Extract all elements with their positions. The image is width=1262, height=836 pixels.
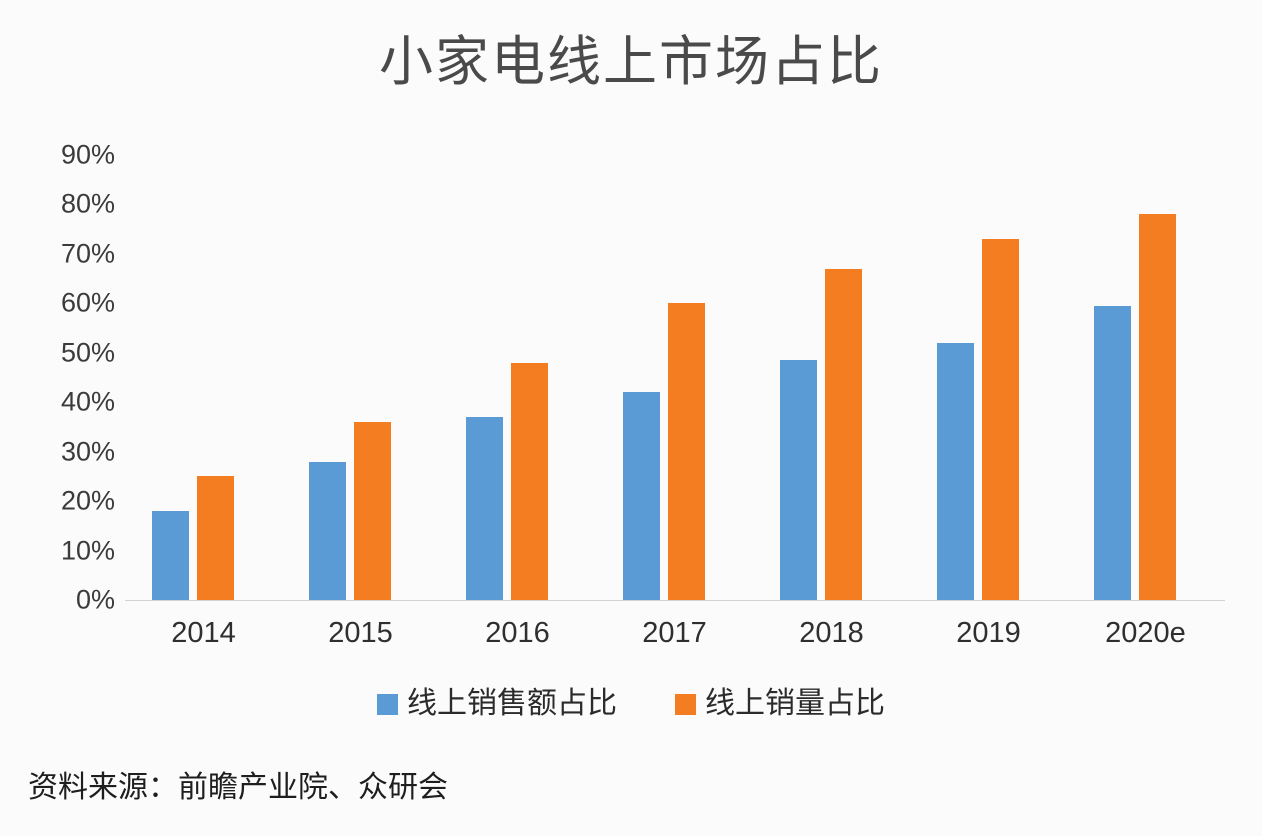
- y-axis-tick: 50%: [23, 339, 115, 366]
- x-axis-tick: 2015: [282, 612, 439, 654]
- source-note: 资料来源：前瞻产业院、众研会: [28, 768, 448, 808]
- x-axis-line: [125, 600, 1225, 601]
- bar-group: [125, 155, 282, 600]
- chart-legend: 线上销售额占比线上销量占比: [0, 686, 1262, 722]
- chart-title: 小家电线上市场占比: [0, 28, 1262, 96]
- x-axis-tick: 2014: [125, 612, 282, 654]
- bar-group: [596, 155, 753, 600]
- legend-item-1[interactable]: 线上销量占比: [675, 686, 885, 722]
- bar-2016-series-0[interactable]: [466, 417, 503, 600]
- bar-group: [910, 155, 1067, 600]
- bar-2018-series-1[interactable]: [825, 269, 862, 600]
- bar-group: [439, 155, 596, 600]
- y-axis-tick: 60%: [23, 290, 115, 317]
- x-axis-tick: 2017: [596, 612, 753, 654]
- bar-2015-series-0[interactable]: [309, 462, 346, 600]
- bar-2016-series-1[interactable]: [511, 363, 548, 600]
- bar-2019-series-0[interactable]: [937, 343, 974, 600]
- bar-2018-series-0[interactable]: [780, 360, 817, 600]
- bar-group: [753, 155, 910, 600]
- x-axis-tick: 2020e: [1067, 612, 1224, 654]
- y-axis-tick: 40%: [23, 389, 115, 416]
- x-axis-tick: 2018: [753, 612, 910, 654]
- legend-label: 线上销售额占比: [407, 686, 617, 722]
- bar-2020e-series-0[interactable]: [1094, 306, 1131, 600]
- bar-2014-series-0[interactable]: [152, 511, 189, 600]
- legend-item-0[interactable]: 线上销售额占比: [377, 686, 617, 722]
- y-axis-tick: 30%: [23, 438, 115, 465]
- bar-2020e-series-1[interactable]: [1139, 214, 1176, 600]
- bar-2019-series-1[interactable]: [982, 239, 1019, 600]
- legend-swatch-icon: [675, 694, 696, 715]
- y-axis-tick: 20%: [23, 488, 115, 515]
- legend-swatch-icon: [377, 694, 398, 715]
- y-axis-tick: 10%: [23, 537, 115, 564]
- bar-2015-series-1[interactable]: [354, 422, 391, 600]
- x-axis-tick: 2019: [910, 612, 1067, 654]
- y-axis-tick: 80%: [23, 191, 115, 218]
- bar-group: [282, 155, 439, 600]
- chart-figure: 小家电线上市场占比 0%10%20%30%40%50%60%70%80%90% …: [0, 0, 1262, 836]
- x-axis-tick-labels: 2014201520162017201820192020e: [125, 612, 1225, 662]
- bar-2014-series-1[interactable]: [197, 476, 234, 600]
- y-axis-tick: 0%: [23, 587, 115, 614]
- plot-area: [125, 155, 1225, 600]
- y-axis-tick: 90%: [23, 142, 115, 169]
- legend-label: 线上销量占比: [705, 686, 885, 722]
- bar-2017-series-0[interactable]: [623, 392, 660, 600]
- y-axis-tick: 70%: [23, 240, 115, 267]
- bar-group: [1067, 155, 1224, 600]
- x-axis-tick: 2016: [439, 612, 596, 654]
- bar-2017-series-1[interactable]: [668, 303, 705, 600]
